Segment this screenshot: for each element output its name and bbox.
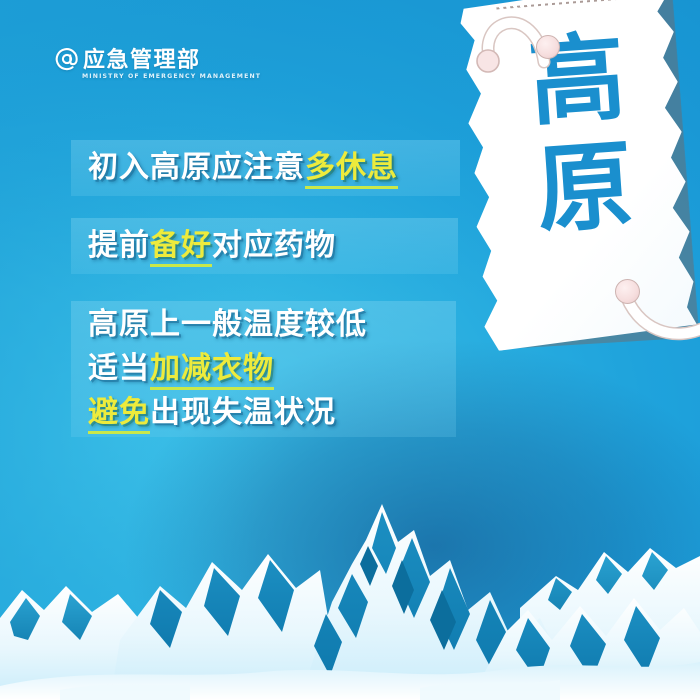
tip-panel-3: 高原上一般温度较低 适当加减衣物 避免出现失温状况 bbox=[71, 301, 456, 437]
tip-3-l2-plain: 适当 bbox=[88, 351, 150, 386]
tip-2-text-highlight: 备好 bbox=[150, 228, 212, 267]
tip-1-line-1: 初入高原应注意多休息 bbox=[71, 147, 460, 189]
logo-wordmark-row: 应急管理部 bbox=[54, 46, 261, 72]
tip-1-text-plain: 初入高原应注意 bbox=[88, 150, 305, 185]
tip-3-l3-highlight: 避免 bbox=[88, 395, 150, 434]
banner-hole-bottom bbox=[615, 279, 640, 304]
tip-panel-2: 提前备好对应药物 bbox=[71, 218, 458, 274]
rope-top-left-icon bbox=[466, 0, 586, 108]
tip-2-text-plain-b: 对应药物 bbox=[212, 228, 336, 263]
mountain-illustration bbox=[0, 490, 700, 700]
logo-name-cn: 应急管理部 bbox=[83, 50, 201, 72]
tip-3-line-3: 避免出现失温状况 bbox=[71, 391, 456, 435]
tip-2-text-plain-a: 提前 bbox=[88, 228, 150, 263]
at-sign-icon bbox=[54, 46, 80, 72]
tip-3-line-2: 适当加减衣物 bbox=[71, 347, 456, 391]
tip-3-l2-highlight: 加减衣物 bbox=[150, 351, 274, 390]
tip-panel-1: 初入高原应注意多休息 bbox=[71, 140, 460, 196]
logo-name-en: MINISTRY OF EMERGENCY MANAGEMENT bbox=[82, 73, 261, 81]
tip-3-l1-plain: 高原上一般温度较低 bbox=[88, 307, 367, 342]
poster-canvas: 应急管理部 MINISTRY OF EMERGENCY MANAGEMENT 高… bbox=[0, 0, 700, 700]
banner-hole-top bbox=[536, 35, 560, 59]
tip-2-line-1: 提前备好对应药物 bbox=[71, 225, 458, 267]
tip-3-line-1: 高原上一般温度较低 bbox=[71, 303, 456, 347]
paper-banner: 高 原 bbox=[470, 0, 700, 382]
banner-char-2: 原 bbox=[506, 129, 663, 247]
tip-3-l3-plain: 出现失温状况 bbox=[150, 395, 336, 430]
tip-1-text-highlight: 多休息 bbox=[305, 150, 398, 189]
ministry-logo: 应急管理部 MINISTRY OF EMERGENCY MANAGEMENT bbox=[54, 46, 261, 81]
